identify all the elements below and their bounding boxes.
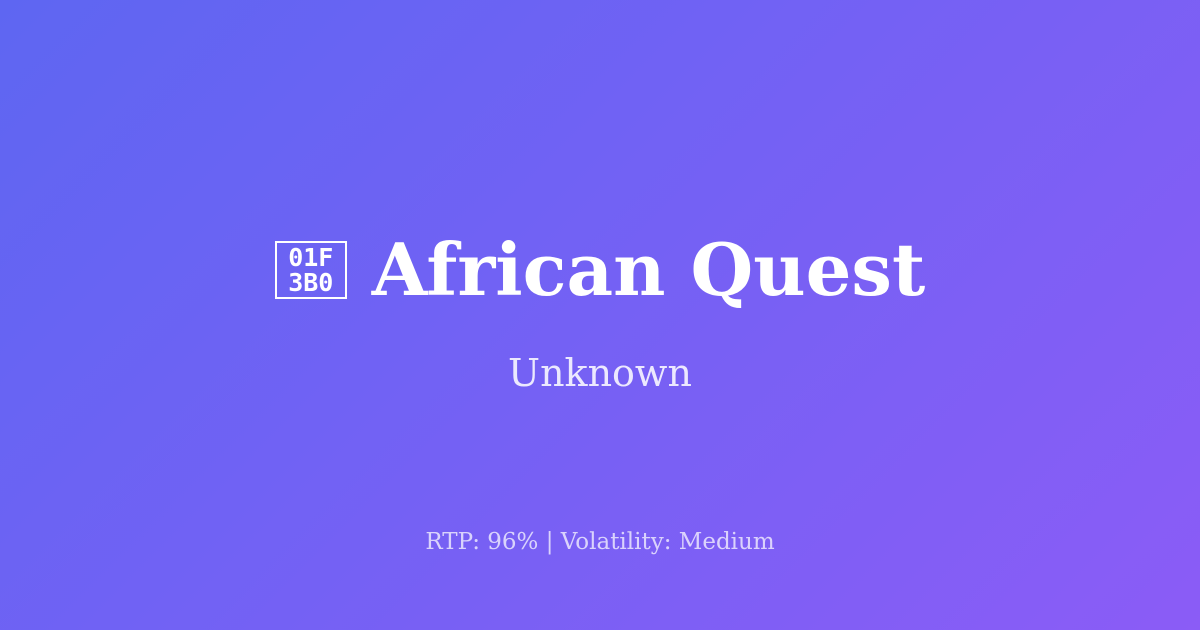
slot-machine-icon: 01F 3B0 (275, 241, 347, 299)
page-title: African Quest (372, 232, 925, 308)
provider-subtitle: Unknown (508, 352, 692, 394)
slot-machine-icon-codepoint-bottom: 3B0 (288, 270, 333, 295)
og-card: 01F 3B0 African Quest Unknown RTP: 96% |… (0, 0, 1200, 630)
hero-block: 01F 3B0 African Quest Unknown (0, 232, 1200, 394)
title-row: 01F 3B0 African Quest (275, 232, 925, 308)
game-stats-meta: RTP: 96% | Volatility: Medium (0, 528, 1200, 556)
slot-machine-icon-codepoint-top: 01F (288, 245, 333, 270)
